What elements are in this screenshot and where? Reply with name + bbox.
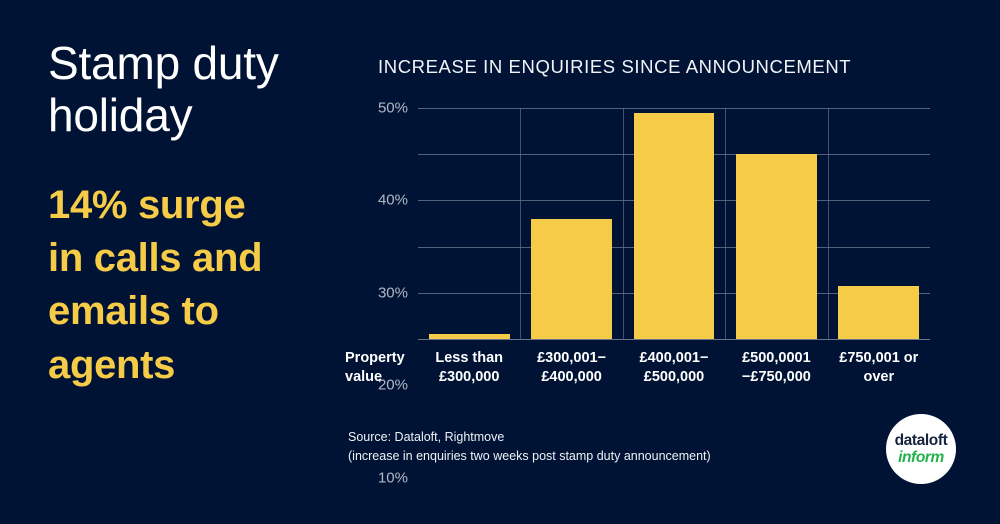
x-axis-title: Property value	[345, 349, 417, 386]
chart-plot-area: 0%10%20%30%40%50%	[418, 108, 930, 339]
logo-wordmark-inform: inform	[898, 450, 944, 466]
chart-title: INCREASE IN ENQUIRIES SINCE ANNOUNCEMENT	[378, 56, 851, 78]
y-axis-tick-label: 40%	[358, 192, 408, 209]
x-axis-category-label: £400,001− £500,000	[617, 349, 731, 386]
key-statistic-statement: 14% surge in calls and emails to agents	[48, 179, 348, 392]
gridline: 0%	[418, 339, 930, 340]
source-note: Source: Dataloft, Rightmove (increase in…	[348, 428, 711, 466]
bar[interactable]	[634, 113, 715, 339]
y-axis-tick-label: 10%	[358, 469, 408, 486]
y-axis-tick-label: 50%	[358, 100, 408, 117]
x-axis-category-label: Less than £300,000	[412, 349, 526, 386]
bar[interactable]	[838, 286, 919, 339]
bar[interactable]	[429, 334, 510, 339]
left-text-panel: Stamp duty holiday 14% surge in calls an…	[48, 38, 348, 392]
x-axis-category-label: £500,0001 −£750,000	[719, 349, 833, 386]
bar[interactable]	[531, 219, 612, 339]
x-axis-category-label: £300,001− £400,000	[514, 349, 628, 386]
y-axis-tick-label: 30%	[358, 284, 408, 301]
x-axis-category-label: £750,001 or over	[822, 349, 936, 386]
page-title: Stamp duty holiday	[48, 38, 348, 141]
logo-wordmark-dataloft: dataloft	[895, 433, 948, 449]
infographic-canvas: Stamp duty holiday 14% surge in calls an…	[0, 0, 1000, 524]
bar[interactable]	[736, 154, 817, 339]
dataloft-inform-logo: dataloft inform	[886, 414, 956, 484]
bars-group	[418, 108, 930, 339]
x-axis-labels: Less than £300,000£300,001− £400,000£400…	[418, 349, 930, 397]
